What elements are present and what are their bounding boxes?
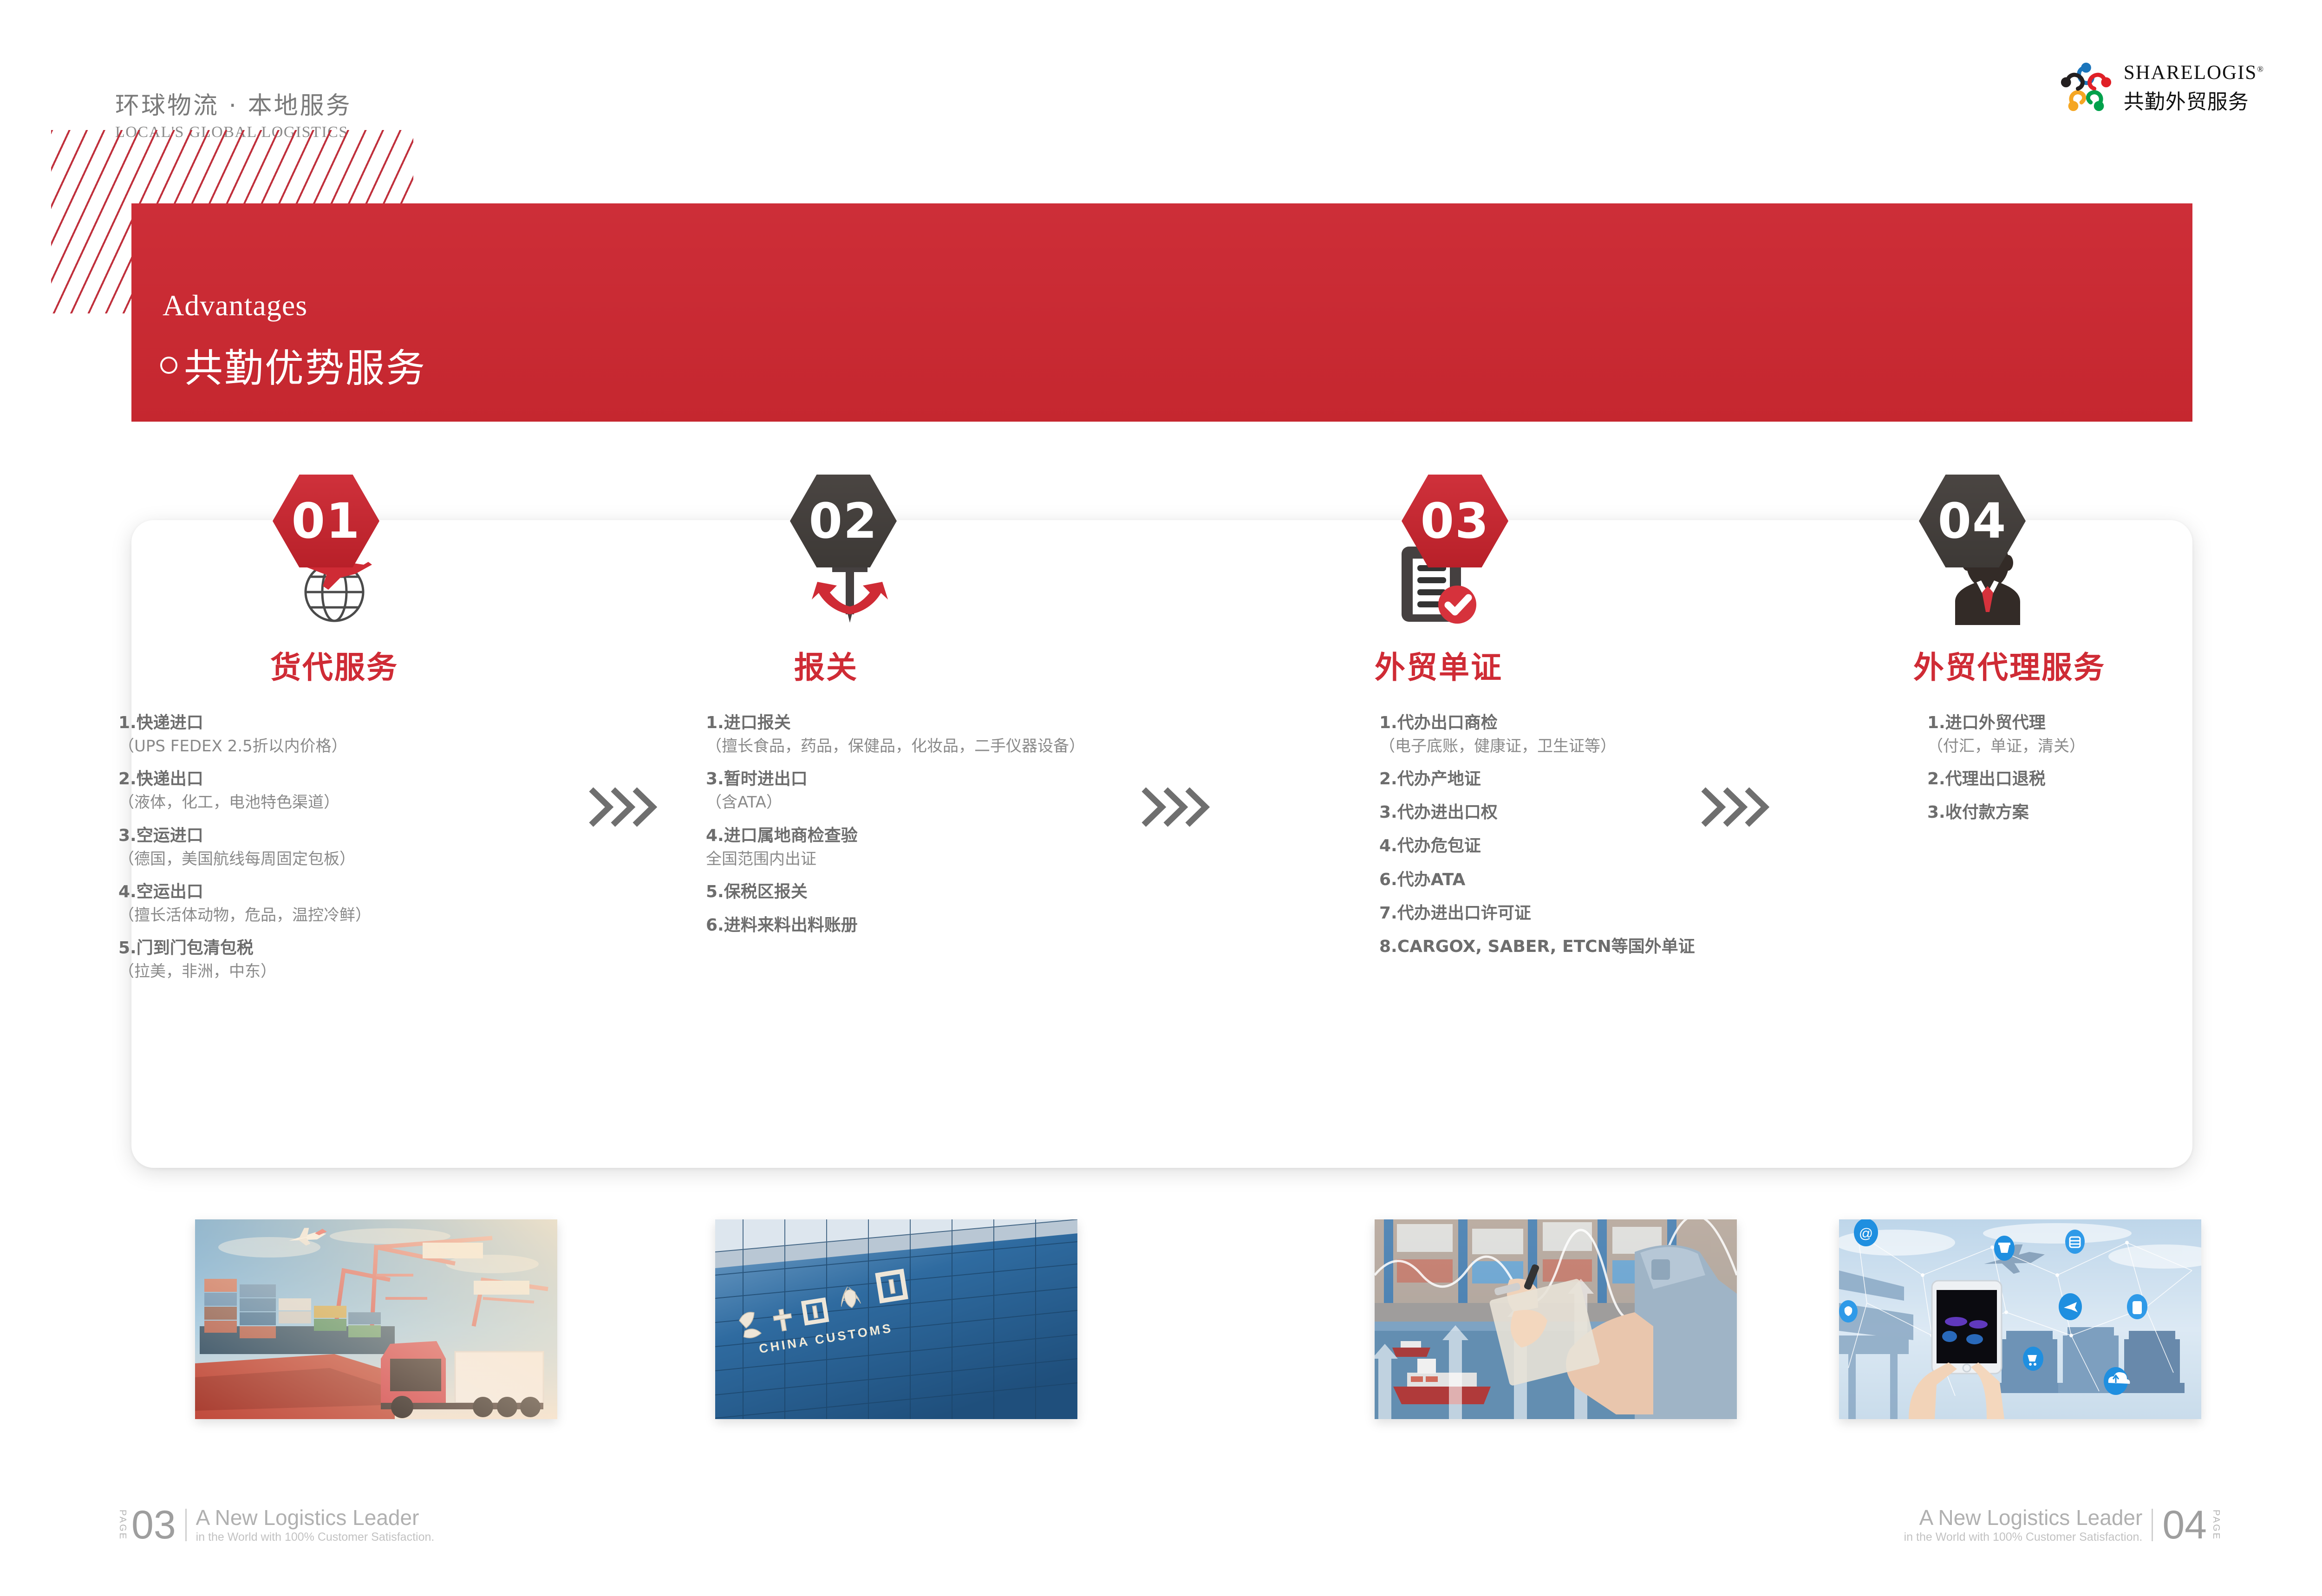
list-item: 1.快递进口（UPS FEDEX 2.5折以内价格）: [118, 712, 585, 756]
service-column-1: 货代服务 1.快递进口（UPS FEDEX 2.5折以内价格） 2.快递出口（液…: [84, 520, 585, 994]
column-title-4: 外贸代理服务: [1746, 643, 2257, 687]
sharelogis-pinwheel-icon: [2059, 60, 2113, 115]
service-list-3: 1.代办出口商检（电子底账，健康证，卫生证等） 2.代办产地证 3.代办进出口权…: [1221, 712, 1769, 958]
triple-chevron-right-icon: [587, 785, 657, 829]
page-number-right: 04: [2162, 1507, 2207, 1543]
column-title-3: 外贸单证: [1221, 643, 1769, 687]
list-item: 5.保税区报关: [706, 881, 1254, 903]
list-item: 4.进口属地商检查验全国范围内出证: [706, 825, 1254, 869]
list-item: 6.进料来料出料账册: [706, 915, 1254, 936]
triple-chevron-right-icon: [1700, 785, 1769, 829]
list-item: 6.代办ATA: [1379, 869, 1769, 891]
list-item: 3.空运进口（德国，美国航线每周固定包板）: [118, 825, 585, 869]
footer-divider: [185, 1509, 187, 1541]
footer-tagline-1-right: A New Logistics Leader: [1904, 1506, 2143, 1529]
service-list-1: 1.快递进口（UPS FEDEX 2.5折以内价格） 2.快递出口（液体，化工，…: [84, 712, 585, 982]
list-item: 1.进口外贸代理（付汇，单证，清关）: [1927, 712, 2257, 756]
list-item: 7.代办进出口许可证: [1379, 903, 1769, 924]
banner-title-cn: 共勤优势服务: [160, 337, 426, 393]
anchor-icon: [604, 520, 1254, 627]
column-title-2: 报关: [604, 643, 1254, 687]
banner-title-en: Advantages: [163, 288, 307, 323]
company-logo: SHARELOGIS® 共勤外贸服务: [2059, 60, 2264, 115]
service-column-3: 外贸单证 1.代办出口商检（电子底账，健康证，卫生证等） 2.代办产地证 3.代…: [1221, 520, 1769, 970]
list-item: 1.代办出口商检（电子底账，健康证，卫生证等）: [1379, 712, 1769, 756]
section-banner: Advantages 共勤优势服务: [131, 203, 2192, 422]
registered-mark: ®: [2257, 64, 2264, 73]
service-column-2: 报关 1.进口报关（擅长食品，药品，保健品，化妆品，二手仪器设备） 3.暂时进出…: [604, 520, 1254, 948]
list-item: 4.空运出口（擅长活体动物，危品，温控冷鲜）: [118, 881, 585, 925]
footer-tagline-2-left: in the World with 100% Customer Satisfac…: [196, 1531, 435, 1544]
list-item: 5.门到门包清包税（拉美，非洲，中东）: [118, 938, 585, 982]
service-column-4: 外贸代理服务 1.进口外贸代理（付汇，单证，清关） 2.代理出口退税 3.收付款…: [1746, 520, 2257, 835]
footer-left: PAGE 03 A New Logistics Leader in the Wo…: [117, 1506, 434, 1544]
column-title-1: 货代服务: [84, 643, 585, 687]
list-item: 1.进口报关（擅长食品，药品，保健品，化妆品，二手仪器设备）: [706, 712, 1254, 756]
photo-inspector-clipboard-data: [1375, 1219, 1737, 1419]
list-item: 2.快递出口（液体，化工，电池特色渠道）: [118, 769, 585, 813]
svg-text:@: @: [1859, 1226, 1873, 1241]
logo-name-cn: 共勤外贸服务: [2124, 85, 2264, 115]
logo-name-en: SHARELOGIS®: [2124, 61, 2264, 84]
tagline-cn: 环球物流 · 本地服务: [115, 86, 352, 121]
list-item: 3.收付款方案: [1927, 802, 2257, 823]
service-list-4: 1.进口外贸代理（付汇，单证，清关） 2.代理出口退税 3.收付款方案: [1746, 712, 2257, 823]
page-number-left: 03: [131, 1507, 176, 1543]
footer-right: A New Logistics Leader in the World with…: [1904, 1506, 2221, 1544]
footer-tagline-1-left: A New Logistics Leader: [196, 1506, 435, 1529]
page-word-right: PAGE: [2211, 1510, 2221, 1540]
list-item: 4.代办危包证: [1379, 835, 1769, 857]
page-word-left: PAGE: [117, 1510, 128, 1540]
footer-divider: [2152, 1509, 2153, 1541]
triple-chevron-right-icon: [1140, 785, 1210, 829]
footer-tagline-2-right: in the World with 100% Customer Satisfac…: [1904, 1531, 2143, 1544]
photo-china-customs-building: CHINA CUSTOMS: [715, 1219, 1077, 1419]
list-item: 8.CARGOX, SABER, ETCN等国外单证: [1379, 936, 1769, 958]
ring-bullet-icon: [160, 357, 177, 374]
list-item: 2.代理出口退税: [1927, 769, 2257, 790]
photo-port-container-terminal: [195, 1219, 557, 1419]
photo-digital-logistics-tablet: @: [1839, 1219, 2201, 1419]
